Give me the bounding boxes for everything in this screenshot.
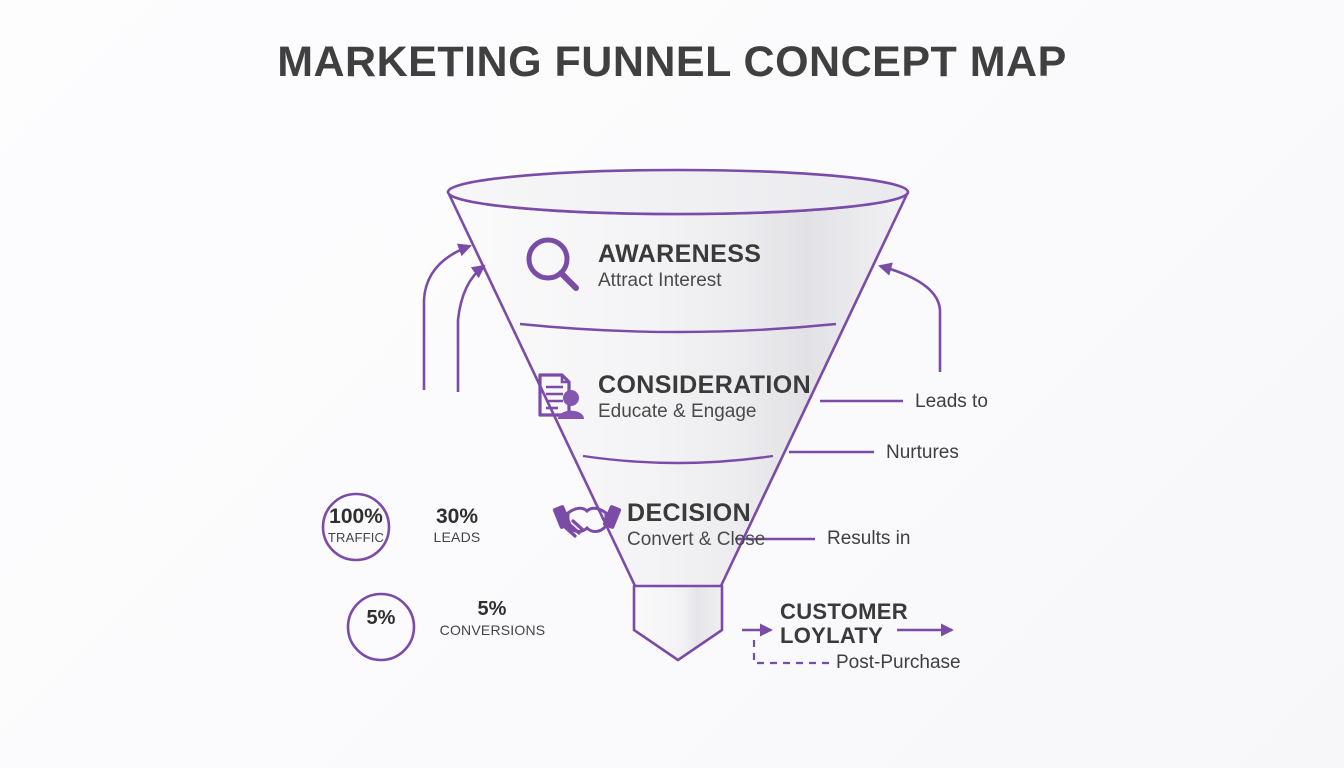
outcome-title-line2: LOYLATY [780,623,883,649]
inbound-arrows-left [424,246,484,392]
metric-circle-value-traffic: 100% [325,505,387,529]
outcome-title-line1: CUSTOMER [780,599,908,625]
stage-title-decision: DECISION [627,499,751,528]
connector-label-nurtures: Nurtures [886,442,959,464]
metric-caption-conversions: CONVERSIONS [432,622,553,638]
metric-caption-leads: LEADS [424,529,490,545]
connector-label-results-in: Results in [827,528,910,550]
funnel-diagram-canvas: MARKETING FUNNEL CONCEPT MAP [0,0,1344,768]
metric-circle-value-conversions: 5% [352,607,410,630]
inbound-arrow-1 [424,246,470,390]
stage-subtitle-awareness: Attract Interest [598,270,722,292]
stage-title-awareness: AWARENESS [598,240,761,269]
stage-subtitle-decision: Convert & Close [627,529,765,551]
inbound-arrow-right [880,266,940,372]
metric-circle-caption-traffic: TRAFFIC [319,530,393,545]
funnel-spout [634,586,722,660]
metric-value-leads: 30% [424,505,490,529]
metric-value-conversions: 5% [459,598,525,621]
inbound-arrow-2 [458,266,484,392]
connector-label-leads-to: Leads to [915,391,988,413]
stage-subtitle-consideration: Educate & Engage [598,401,756,423]
stage-title-consideration: CONSIDERATION [598,371,811,400]
funnel-rim [448,170,908,214]
inbound-arrow-3 [880,266,940,372]
outcome-note-post-purchase: Post-Purchase [836,652,961,674]
